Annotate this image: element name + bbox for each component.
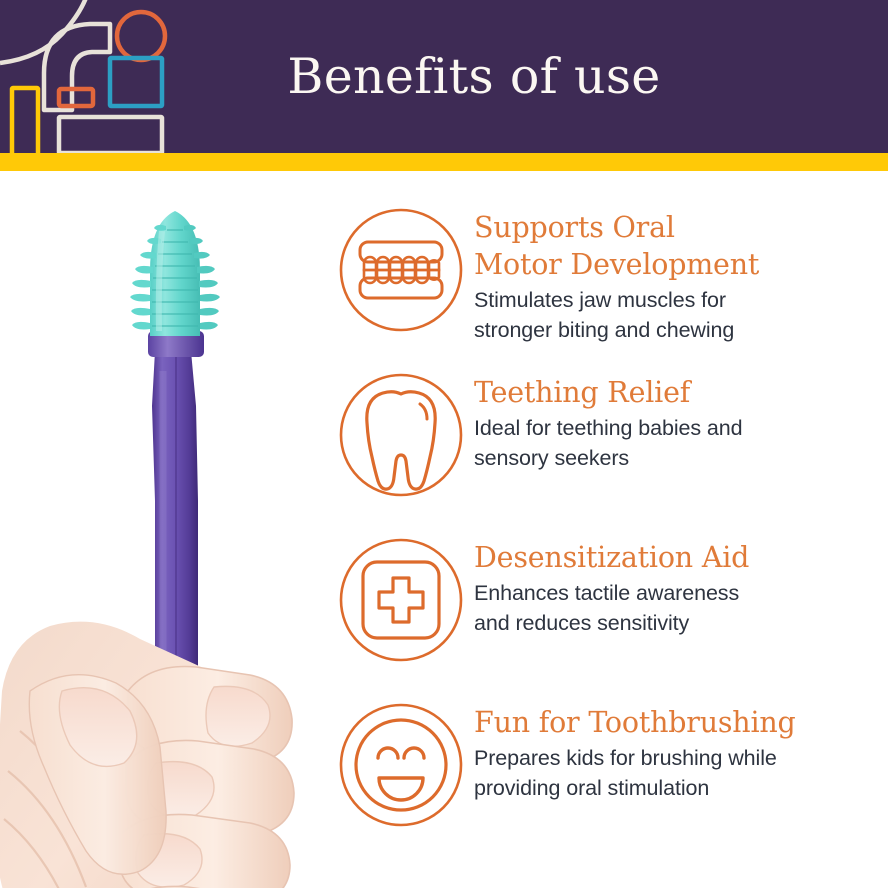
benefit-description: Stimulates jaw muscles for stronger biti… <box>474 285 759 345</box>
benefit-text: Desensitization Aid Enhances tactile awa… <box>466 535 749 638</box>
tooth-icon <box>336 370 466 500</box>
benefit-text: Fun for Toothbrushing Prepares kids for … <box>466 700 796 803</box>
benefit-description: Ideal for teething babies and sensory se… <box>474 413 742 473</box>
benefit-item-oral-motor: Supports Oral Motor Development Stimulat… <box>336 205 888 355</box>
benefit-item-desensitization: Desensitization Aid Enhances tactile awa… <box>336 535 888 685</box>
header-accent-band <box>0 153 888 171</box>
hand-illustration <box>0 622 294 888</box>
benefit-item-fun-toothbrushing: Fun for Toothbrushing Prepares kids for … <box>336 700 888 850</box>
benefit-description: Enhances tactile awareness and reduces s… <box>474 578 749 638</box>
benefit-text: Supports Oral Motor Development Stimulat… <box>466 205 759 345</box>
brush-head-highlight <box>159 231 162 331</box>
smiley-face-icon <box>336 700 466 830</box>
page-title: Benefits of use <box>0 0 888 153</box>
benefit-description: Prepares kids for brushing while providi… <box>474 743 796 803</box>
benefit-title: Teething Relief <box>474 374 742 411</box>
infographic-page: Benefits of use <box>0 0 888 888</box>
benefit-title: Desensitization Aid <box>474 539 749 576</box>
benefit-text: Teething Relief Ideal for teething babie… <box>466 370 742 473</box>
dentures-icon <box>336 205 466 335</box>
benefit-title: Fun for Toothbrushing <box>474 704 796 741</box>
header-banner: Benefits of use <box>0 0 888 153</box>
product-illustration <box>0 171 336 888</box>
benefit-title: Supports Oral Motor Development <box>474 209 759 283</box>
benefits-list: Supports Oral Motor Development Stimulat… <box>336 180 888 880</box>
product-photo <box>0 171 336 888</box>
benefit-item-teething-relief: Teething Relief Ideal for teething babie… <box>336 370 888 520</box>
brush-head-group <box>130 211 220 336</box>
medical-plus-icon <box>336 535 466 665</box>
